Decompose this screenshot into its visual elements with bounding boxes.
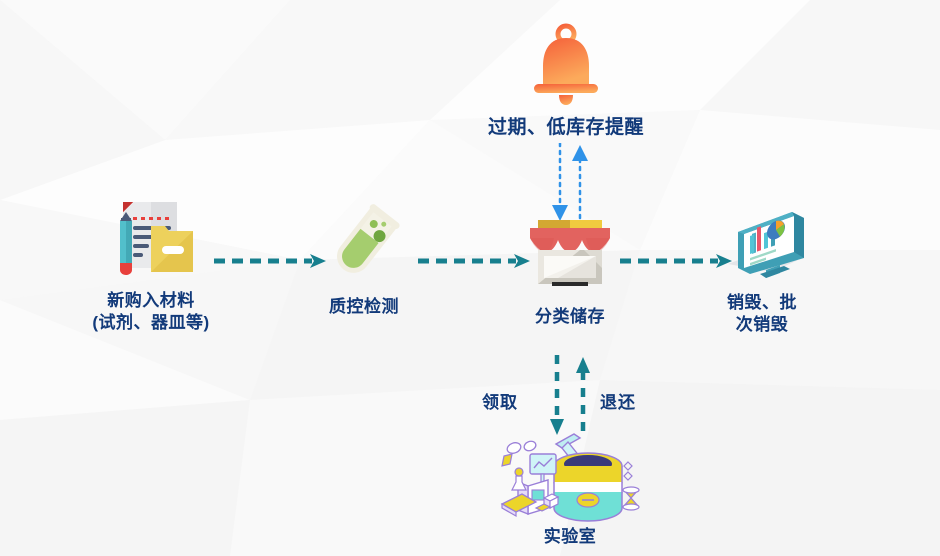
arrow-alert-up [568,143,592,223]
arrow-storage-to-lab [548,355,566,437]
edge-label-return: 退还 [600,388,636,413]
node-storage-label: 分类储存 [506,306,634,328]
document-folder-icon [105,196,197,278]
node-lab[interactable]: 实验室 [500,432,640,548]
diagram-canvas: 过期、低库存提醒 [0,0,940,556]
monitor-chart-icon [714,202,810,284]
node-alert[interactable]: 过期、低库存提醒 [466,22,666,140]
node-destroy[interactable]: 销毁、批 次销毁 [698,202,826,336]
node-destroy-label: 销毁、批 次销毁 [698,292,826,336]
bell-icon [526,22,606,110]
node-qc-test[interactable]: 质控检测 [300,204,428,318]
node-storage[interactable]: 分类储存 [506,218,634,328]
node-lab-label: 实验室 [500,526,640,548]
node-new-material-label: 新购入材料 (试剂、器皿等) [56,290,246,334]
test-tube-icon [324,204,404,282]
laboratory-icon [500,432,640,522]
node-alert-label: 过期、低库存提醒 [466,116,666,140]
storefront-icon [522,218,618,290]
node-qc-test-label: 质控检测 [300,296,428,318]
arrow-lab-to-storage [574,355,592,437]
edge-label-collect: 领取 [482,388,518,413]
